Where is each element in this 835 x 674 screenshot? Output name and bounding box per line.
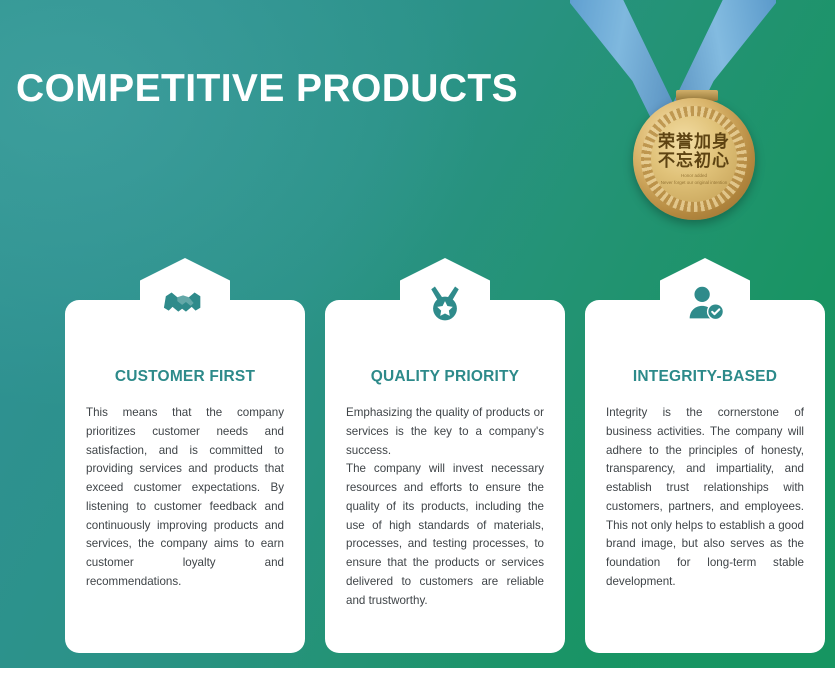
card-heading: INTEGRITY-BASED bbox=[585, 368, 825, 386]
card-paragraph: Integrity is the cornerstone of business… bbox=[606, 404, 804, 592]
card-paragraph: The company will invest necessary resour… bbox=[346, 460, 544, 610]
card-heading: CUSTOMER FIRST bbox=[65, 368, 305, 386]
medal-face: 荣誉加身 不忘初心 Honor added Never forget our o… bbox=[651, 116, 737, 202]
card-body: This means that the company prioritizes … bbox=[86, 404, 284, 592]
card-paragraph: This means that the company prioritizes … bbox=[86, 404, 284, 592]
medal-subtitle-line-2: Never forget our original intention bbox=[661, 180, 728, 186]
card-quality-priority[interactable]: QUALITY PRIORITY Emphasizing the quality… bbox=[325, 300, 565, 653]
page-title: COMPETITIVE PRODUCTS bbox=[16, 67, 518, 111]
card-customer-first[interactable]: CUSTOMER FIRST This means that the compa… bbox=[65, 300, 305, 653]
card-paragraph: Emphasizing the quality of products or s… bbox=[346, 404, 544, 460]
medal-text: 荣誉加身 不忘初心 bbox=[658, 132, 730, 170]
card-body: Emphasizing the quality of products or s… bbox=[346, 404, 544, 611]
medal-subtitle: Honor added Never forget our original in… bbox=[661, 173, 728, 185]
card-body: Integrity is the cornerstone of business… bbox=[606, 404, 804, 592]
slide: COMPETITIVE PRODUCTS 荣誉加身 不忘初心 Honor add… bbox=[0, 0, 835, 674]
award-medal-image: 荣誉加身 不忘初心 Honor added Never forget our o… bbox=[548, 0, 835, 230]
medal-disc: 荣誉加身 不忘初心 Honor added Never forget our o… bbox=[633, 98, 755, 220]
bottom-white-strip bbox=[0, 668, 835, 674]
card-list: CUSTOMER FIRST This means that the compa… bbox=[65, 300, 835, 653]
card-integrity-based[interactable]: INTEGRITY-BASED Integrity is the corners… bbox=[585, 300, 825, 653]
medal-text-line-2: 不忘初心 bbox=[658, 151, 730, 170]
medal-text-line-1: 荣誉加身 bbox=[658, 132, 730, 151]
card-heading: QUALITY PRIORITY bbox=[325, 368, 565, 386]
